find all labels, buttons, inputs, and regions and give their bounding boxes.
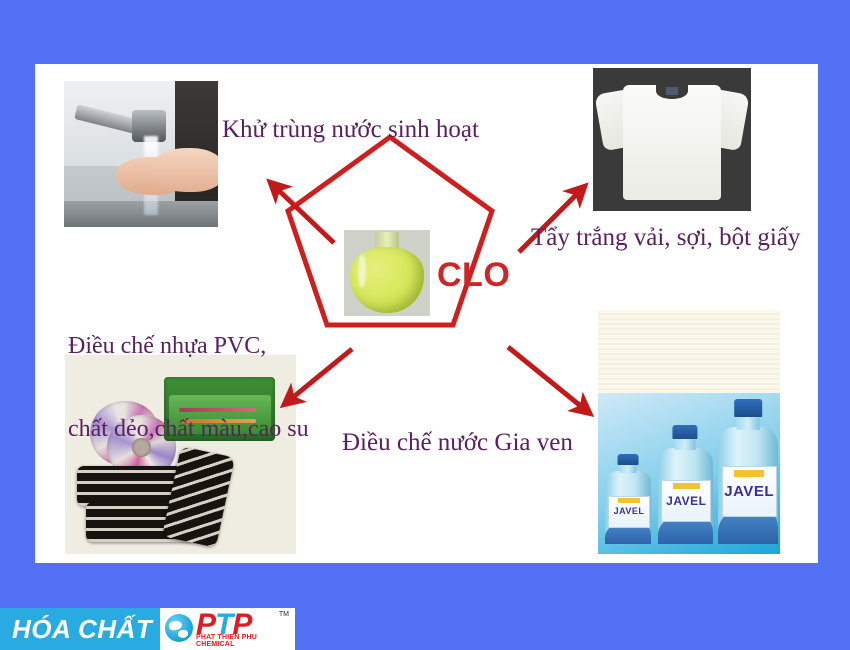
bottle-label: JAVEL: [722, 466, 777, 517]
clo-label: CLO: [437, 258, 510, 292]
caption-javel-production: Điều chế nước Gia ven: [342, 428, 573, 457]
chlorine-flask-image: [344, 230, 430, 316]
bottle-label: JAVEL: [608, 496, 650, 529]
logo-tagline: PHAT THIEN PHU CHEMICAL: [196, 634, 295, 648]
tshirt-tag: [666, 87, 679, 96]
caption-disinfect-water: Khử trùng nước sinh hoạt: [222, 115, 479, 144]
bottle-neck: [619, 464, 636, 473]
javel-brand-text: JAVEL: [724, 484, 774, 499]
bottle-neck: [737, 415, 760, 429]
banner-text: HÓA CHẤT: [12, 614, 152, 645]
javel-bottle-large: JAVEL: [718, 399, 778, 544]
bottle-cap: [734, 399, 762, 416]
bottle-label-banner: [734, 470, 764, 478]
bottle-label-banner: [673, 483, 700, 489]
caption-pvc-production: Điều chế nhựa PVC, chất dẻo,chất màu,cao…: [68, 277, 309, 500]
caption-pvc-line1: Điều chế nhựa PVC,: [68, 333, 309, 361]
slide-canvas: JAVEL JAVEL: [0, 0, 850, 650]
bottle-label-banner: [618, 498, 640, 503]
tshirt-body: [623, 85, 721, 199]
javel-bottle-medium: JAVEL: [658, 425, 713, 544]
bottle-cap: [673, 425, 698, 439]
photo-javel-bottles: JAVEL JAVEL: [598, 310, 780, 554]
javel-brand-text: JAVEL: [614, 507, 645, 516]
bottle-neck: [675, 438, 696, 450]
photo-faucet-handwashing: [64, 81, 218, 227]
javel-bottle-small: JAVEL: [605, 454, 651, 544]
javel-paper-backdrop: [598, 310, 780, 398]
photo-white-tshirt: [593, 68, 751, 211]
faucet-counter: [64, 201, 218, 227]
ptp-logo: PTP TM PHAT THIEN PHU CHEMICAL: [160, 608, 295, 650]
globe-icon: [165, 614, 193, 642]
caption-pvc-line2: chất dẻo,chất màu,cao su: [68, 416, 309, 444]
bottle-cap: [618, 454, 639, 465]
javel-brand-text: JAVEL: [666, 495, 706, 507]
trademark-mark: TM: [279, 611, 289, 618]
bottle-label: JAVEL: [661, 480, 711, 523]
hand-right: [150, 148, 218, 192]
caption-bleach-textiles: Tẩy trắng vải, sợi, bột giấy: [531, 223, 800, 252]
javel-blue-scene: JAVEL JAVEL: [598, 393, 780, 554]
